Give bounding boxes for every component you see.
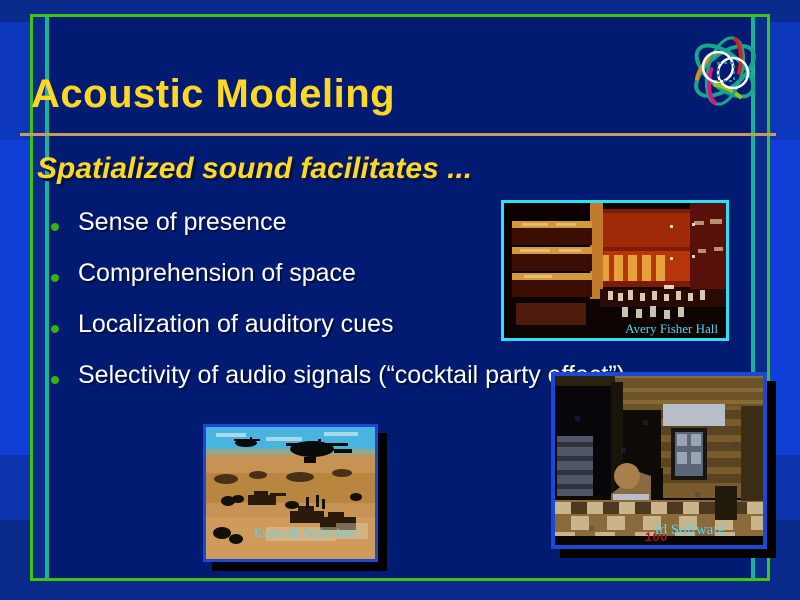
bullet-text: Localization of auditory cues <box>78 310 393 339</box>
bullet-text: Sense of presence <box>78 208 286 237</box>
image-caption: Evans & Sutherland <box>254 525 359 541</box>
left-edge-band <box>0 0 30 600</box>
image-avery-fisher-hall: Avery Fisher Hall <box>501 200 729 341</box>
bullet-text: Selectivity of audio signals (“cocktail … <box>78 361 625 390</box>
image-caption: Avery Fisher Hall <box>625 321 718 337</box>
bullet-text: Comprehension of space <box>78 259 356 288</box>
image-evans-sutherland: Evans & Sutherland <box>203 424 378 562</box>
slide-subtitle: Spatialized sound facilitates ... <box>37 152 472 186</box>
bullet-dot-icon <box>51 325 59 333</box>
dungeon-corridor-scene <box>555 376 763 545</box>
bullet-dot-icon <box>51 223 59 231</box>
bullet-dot-icon <box>51 274 59 282</box>
atom-orbit-logo-icon <box>677 23 773 119</box>
slide: Acoustic Modeling Spatialized sound faci… <box>0 0 800 600</box>
concert-hall-photo <box>504 203 726 338</box>
page-title: Acoustic Modeling <box>31 72 395 117</box>
image-caption: Id Software <box>655 522 725 539</box>
title-divider <box>20 133 776 136</box>
image-id-software: 100 Id Software <box>551 372 767 549</box>
bullet-dot-icon <box>51 376 59 384</box>
